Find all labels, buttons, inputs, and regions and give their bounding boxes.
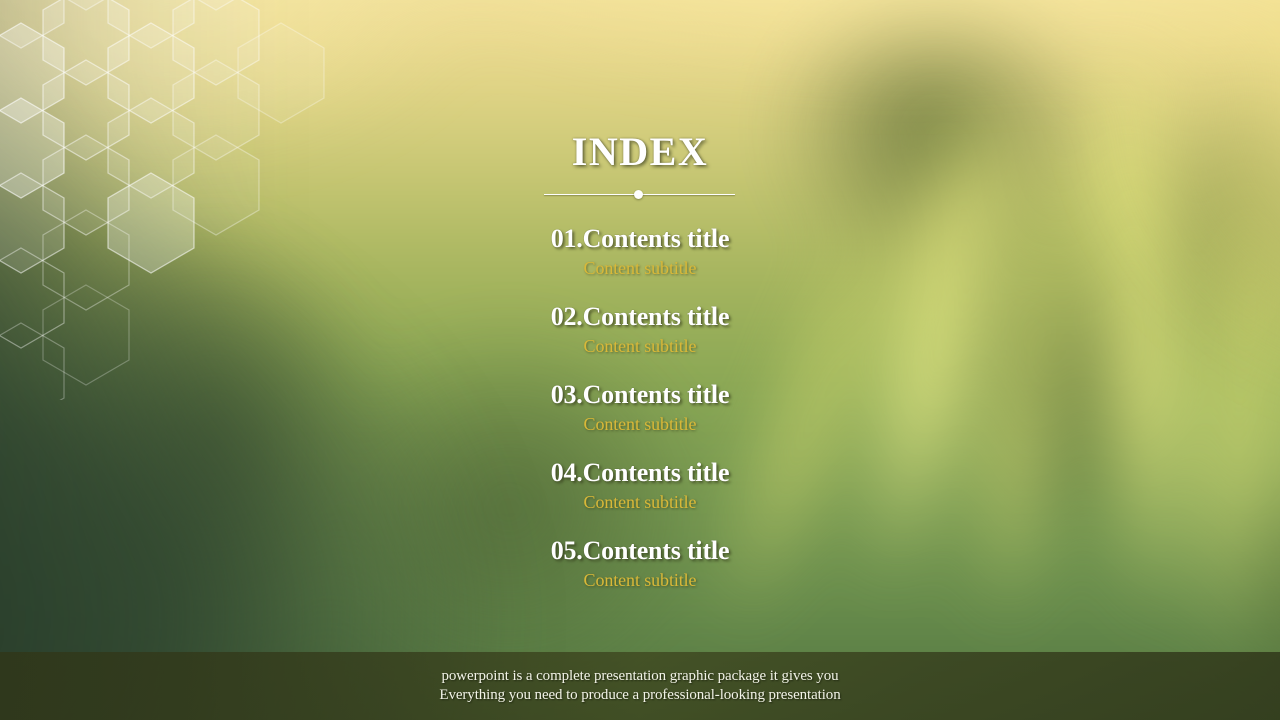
list-item[interactable]: 04.Contents title Content subtitle	[0, 456, 1280, 522]
list-item[interactable]: 05.Contents title Content subtitle	[0, 534, 1280, 600]
index-item-subtitle: Content subtitle	[0, 334, 1280, 358]
index-item-title: 03.Contents title	[0, 378, 1280, 412]
index-item-title: 05.Contents title	[0, 534, 1280, 568]
page-title: INDEX	[0, 128, 1280, 175]
index-item-title: 01.Contents title	[0, 222, 1280, 256]
index-list: 01.Contents title Content subtitle 02.Co…	[0, 222, 1280, 612]
index-item-title: 02.Contents title	[0, 300, 1280, 334]
footer-bar: powerpoint is a complete presentation gr…	[0, 652, 1280, 720]
slide-content: INDEX 01.Contents title Content subtitle…	[0, 0, 1280, 720]
index-item-title: 04.Contents title	[0, 456, 1280, 490]
index-item-subtitle: Content subtitle	[0, 568, 1280, 592]
list-item[interactable]: 02.Contents title Content subtitle	[0, 300, 1280, 366]
index-item-subtitle: Content subtitle	[0, 412, 1280, 436]
index-item-subtitle: Content subtitle	[0, 490, 1280, 514]
list-item[interactable]: 01.Contents title Content subtitle	[0, 222, 1280, 288]
list-item[interactable]: 03.Contents title Content subtitle	[0, 378, 1280, 444]
footer-line-1: powerpoint is a complete presentation gr…	[441, 667, 838, 686]
divider-dot-icon	[634, 190, 643, 199]
footer-line-2: Everything you need to produce a profess…	[439, 686, 840, 705]
presentation-slide: INDEX 01.Contents title Content subtitle…	[0, 0, 1280, 720]
title-divider	[544, 193, 735, 196]
index-item-subtitle: Content subtitle	[0, 256, 1280, 280]
